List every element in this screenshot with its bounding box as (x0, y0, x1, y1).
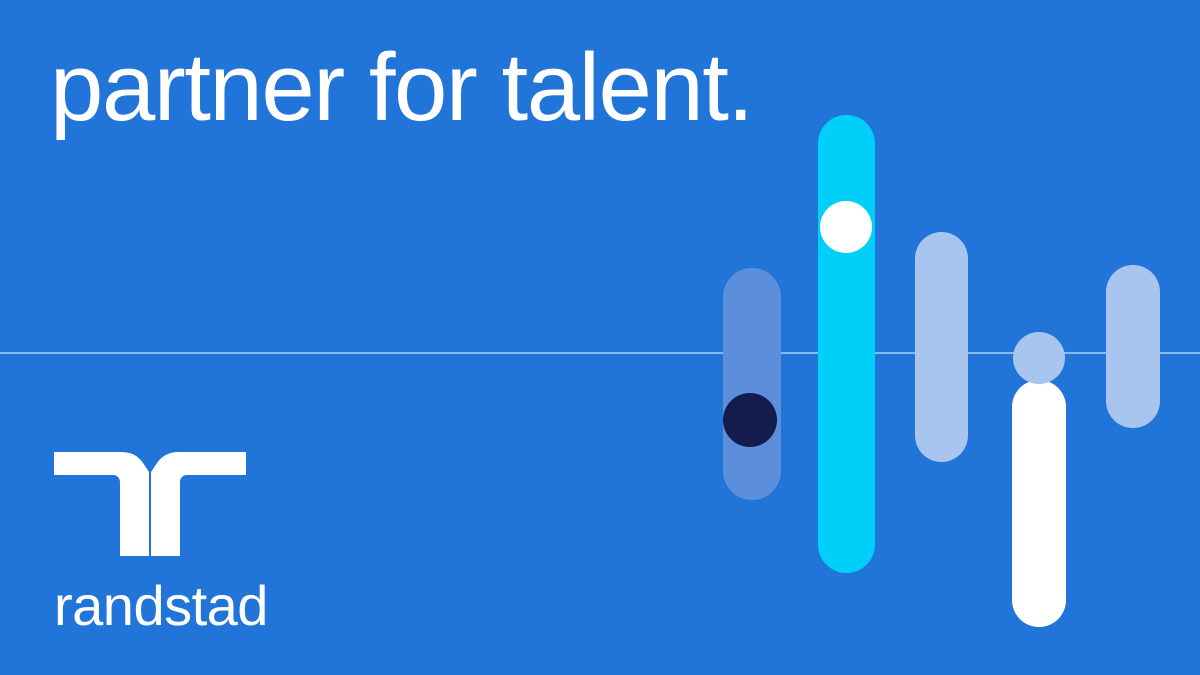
dot-white (820, 201, 872, 253)
bar-1 (723, 268, 781, 500)
bar-4 (1012, 380, 1066, 627)
randstad-brand-banner: partner for talent. randstad (0, 0, 1200, 675)
bar-3 (915, 232, 968, 462)
bar-2 (818, 115, 875, 573)
dot-navy (723, 393, 777, 447)
dot-periwinkle (1013, 332, 1065, 384)
brand-wordmark: randstad (54, 578, 314, 634)
bar-5 (1106, 265, 1160, 428)
randstad-y-mark-icon (54, 452, 246, 556)
brand-logo: randstad (54, 452, 314, 634)
